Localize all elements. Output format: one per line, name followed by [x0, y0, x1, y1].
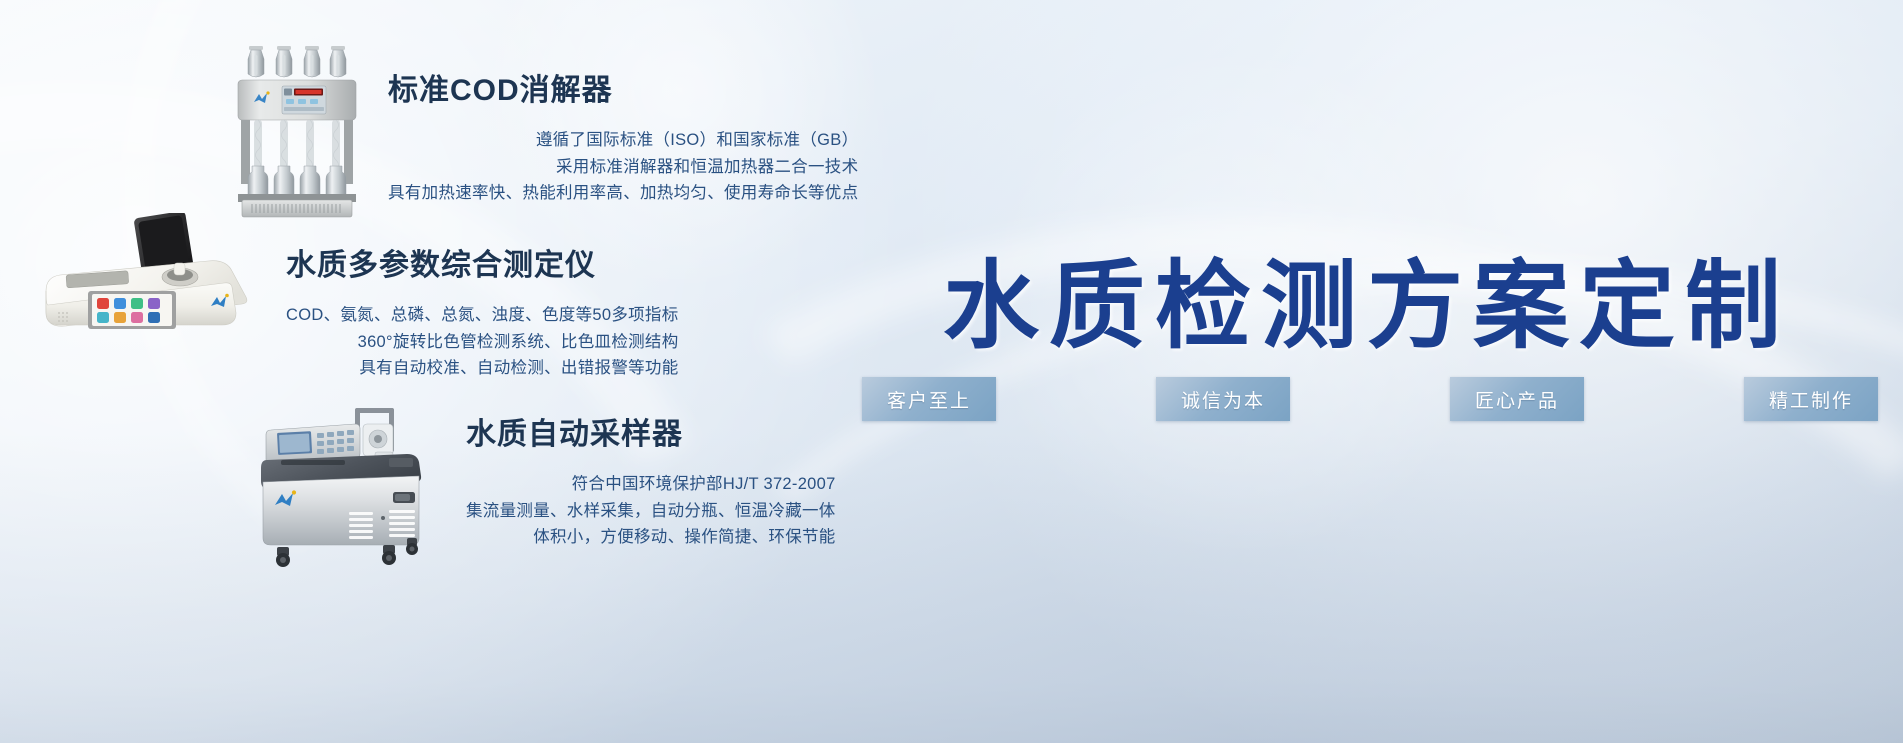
product-line: 360°旋转比色管检测系统、比色皿检测结构: [286, 329, 679, 356]
product-line: COD、氨氮、总磷、总氮、浊度、色度等50多项指标: [286, 302, 679, 329]
product-line: 采用标准消解器和恒温加热器二合一技术: [388, 154, 858, 181]
cod-digester-image: [232, 44, 362, 219]
product-line: 遵循了国际标准（ISO）和国家标准（GB）: [388, 127, 858, 154]
product-block-cod-digester: 标准COD消解器 遵循了国际标准（ISO）和国家标准（GB） 采用标准消解器和恒…: [388, 74, 858, 207]
product-line: 符合中国环境保护部HJ/T 372-2007: [466, 471, 836, 498]
product-line: 体积小，方便移动、操作简捷、环保节能: [466, 524, 836, 551]
product-block-multiparameter-analyzer: 水质多参数综合测定仪 COD、氨氮、总磷、总氮、浊度、色度等50多项指标 360…: [286, 249, 679, 382]
background-light-sweep-right: [893, 0, 1903, 743]
promo-banner: 标准COD消解器 遵循了国际标准（ISO）和国家标准（GB） 采用标准消解器和恒…: [0, 0, 1903, 743]
product-description-cod-digester: 遵循了国际标准（ISO）和国家标准（GB） 采用标准消解器和恒温加热器二合一技术…: [388, 127, 858, 207]
product-description-multiparameter-analyzer: COD、氨氮、总磷、总氮、浊度、色度等50多项指标 360°旋转比色管检测系统、…: [286, 302, 679, 382]
slogan-badge-customer-first[interactable]: 客户至上: [862, 377, 996, 421]
product-title-auto-sampler: 水质自动采样器: [466, 418, 836, 451]
slogan-badge-row: 客户至上 诚信为本 匠心产品 精工制作: [862, 377, 1878, 421]
slogan-badge-craftsmanship[interactable]: 匠心产品: [1450, 377, 1584, 421]
product-line: 具有加热速率快、热能利用率高、加热均匀、使用寿命长等优点: [388, 180, 858, 207]
product-line: 集流量测量、水样采集，自动分瓶、恒温冷藏一体: [466, 498, 836, 525]
slogan-badge-fine-making[interactable]: 精工制作: [1744, 377, 1878, 421]
auto-sampler-image: [237, 408, 452, 588]
product-title-cod-digester: 标准COD消解器: [388, 74, 858, 107]
slogan-badge-integrity[interactable]: 诚信为本: [1156, 377, 1290, 421]
product-title-multiparameter-analyzer: 水质多参数综合测定仪: [286, 249, 679, 282]
product-line: 具有自动校准、自动检测、出错报警等功能: [286, 355, 679, 382]
product-description-auto-sampler: 符合中国环境保护部HJ/T 372-2007 集流量测量、水样采集，自动分瓶、恒…: [466, 471, 836, 551]
multiparameter-analyzer-image: [28, 213, 263, 358]
banner-headline: 水质检测方案定制: [862, 228, 1872, 367]
product-block-auto-sampler: 水质自动采样器 符合中国环境保护部HJ/T 372-2007 集流量测量、水样采…: [466, 418, 836, 551]
